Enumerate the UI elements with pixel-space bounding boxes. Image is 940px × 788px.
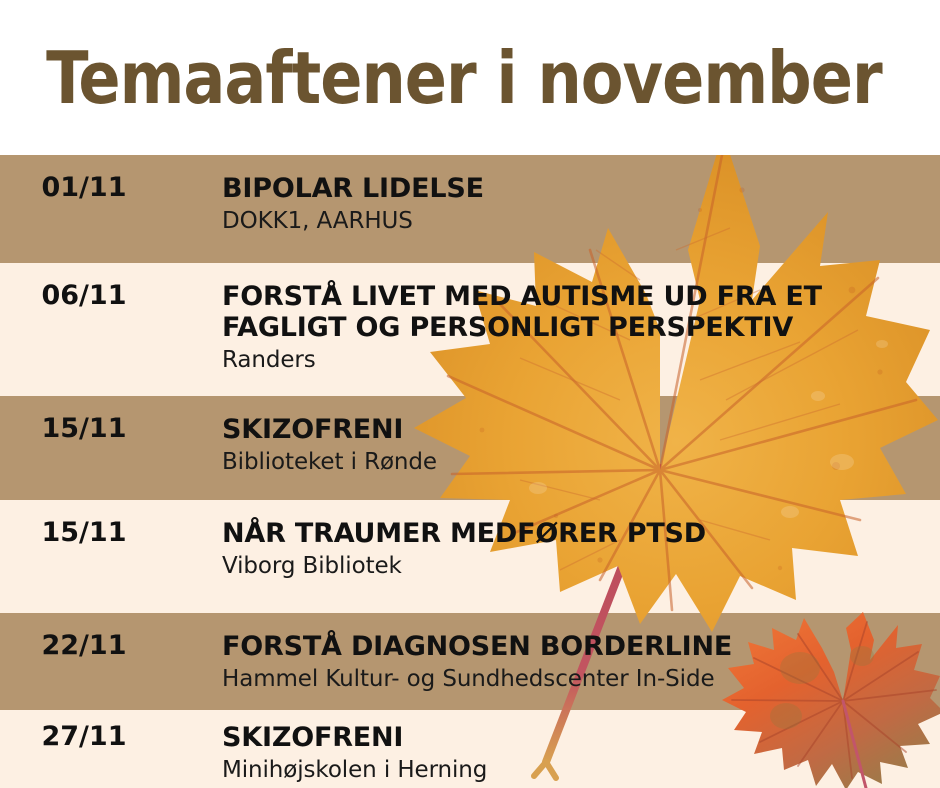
- row-bands: [0, 155, 940, 788]
- poster-canvas: Temaaftener i november 01/11BIPOLAR LIDE…: [0, 0, 940, 788]
- row-band-1: [0, 155, 940, 263]
- row-band-2: [0, 263, 940, 396]
- row-band-6: [0, 710, 940, 788]
- page-title: Temaaftener i november: [0, 42, 882, 114]
- title-bar: Temaaftener i november: [0, 0, 940, 155]
- row-band-3: [0, 396, 940, 500]
- row-band-5: [0, 613, 940, 710]
- row-band-4: [0, 500, 940, 613]
